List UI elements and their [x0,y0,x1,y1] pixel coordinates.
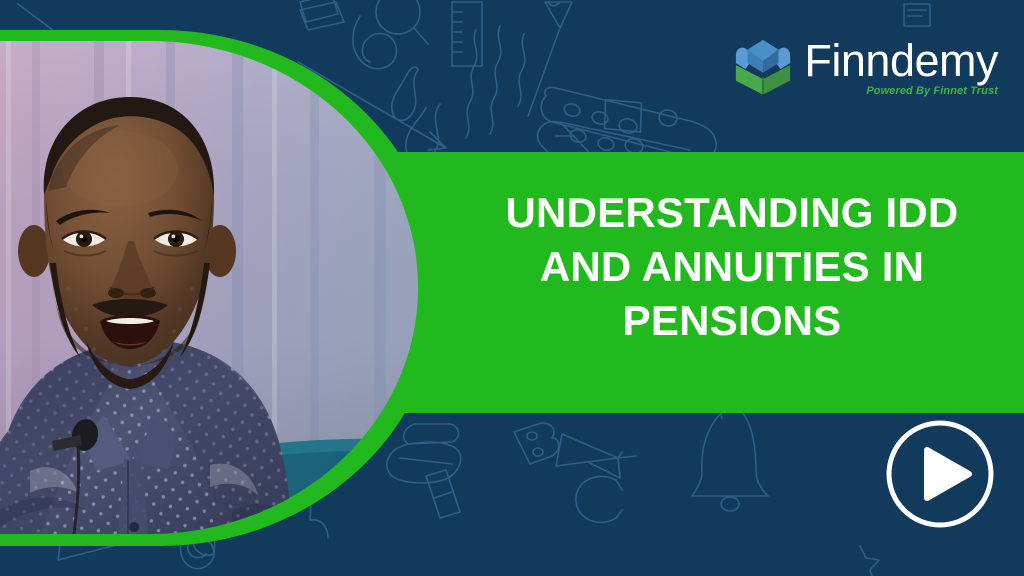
title-line-3: PENSIONS [452,294,1012,348]
play-button[interactable] [884,418,996,530]
brand-wordmark: Finndemy [804,38,998,83]
brand-tagline: Powered By Finnet Trust [866,86,998,97]
video-thumbnail: UNDERSTANDING IDD AND ANNUITIES IN PENSI… [0,0,1024,576]
brand-logo[interactable]: Finndemy Powered By Finnet Trust [732,36,998,98]
title-line-2: AND ANNUITIES IN [452,240,1012,294]
title-line-1: UNDERSTANDING IDD [452,186,1012,240]
presenter-photo [0,41,418,534]
finndemy-cube-logo-icon [732,36,794,98]
page-title: UNDERSTANDING IDD AND ANNUITIES IN PENSI… [452,186,1012,347]
